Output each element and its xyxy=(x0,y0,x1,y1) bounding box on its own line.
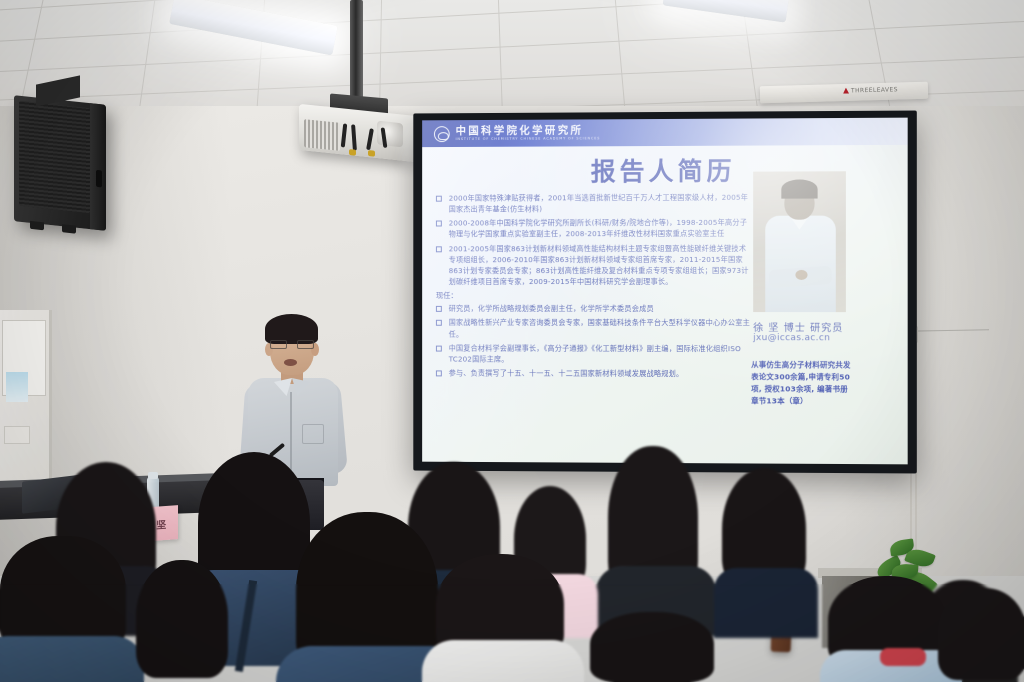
slide-speaker-name: 徐 坚 博士 研究员 xyxy=(753,319,843,334)
institute-logo-icon xyxy=(434,126,450,142)
bullet-square-icon xyxy=(436,221,442,227)
wall-speaker xyxy=(14,95,106,231)
bullet-item: 2001-2005年国家863计划新材料领域高性能结构材料主题专家组暨高性能碳纤… xyxy=(436,242,752,287)
bullet-item: 2000-2008年中国科学院化学研究所副所长(科研/财务/院地合作等)，199… xyxy=(436,217,752,240)
bullet-text: 中国复合材料学会副理事长，《高分子通报》《化工新型材料》副主编，国际标准化组织I… xyxy=(449,342,752,365)
slide-research-summary: 从事仿生高分子材料研究共发表论文300余篇,申请专利50项, 授权103余项, … xyxy=(751,359,852,407)
audience-member xyxy=(606,446,702,596)
bullet-item: 2000年国家特殊津贴获得者，2001年当选首批新世纪百千万人才工程国家级人材，… xyxy=(436,192,752,215)
audience-member xyxy=(590,612,716,682)
slide-header-band: 中国科学院化学研究所 INSTITUTE OF CHEMISTRY CHINES… xyxy=(422,118,908,148)
presenter-shirt-pocket xyxy=(302,424,324,444)
slide-speaker-email: jxu@iccas.ac.cn xyxy=(753,333,830,343)
cabinet-notice xyxy=(6,372,28,402)
bullet-square-icon xyxy=(436,370,442,376)
projector-vent xyxy=(304,119,340,151)
speaker-handle-port xyxy=(96,170,102,188)
bullet-item: 研究员，化学所战略规划委员会副主任，化学所学术委员会成员 xyxy=(436,303,752,314)
ceiling xyxy=(0,0,1024,118)
speaker-side-panel xyxy=(90,103,106,231)
audience-member xyxy=(938,588,1024,682)
audience-member xyxy=(0,536,128,682)
bullet-text: 参与、负责撰写了十五、十一五、十二五国家新材料领域发展战略规划。 xyxy=(449,368,684,380)
bullet-square-icon xyxy=(436,345,442,351)
audience-member xyxy=(436,554,568,682)
slide-bullet-list: 2000年国家特殊津贴获得者，2001年当选首批新世纪百千万人才工程国家级人材，… xyxy=(436,192,752,383)
lecture-hall-photo: THREELEAVES 中国科学院化学研究所 INSTITUTE OF CHEM… xyxy=(0,0,1024,682)
screen-brand-text: THREELEAVES xyxy=(851,86,898,94)
bullet-square-icon xyxy=(436,196,442,202)
bullet-item: 国家战略性新兴产业专家咨询委员会专家，国家基础科技条件平台大型科学仪器中心办公室… xyxy=(436,317,752,340)
portrait-hair xyxy=(781,179,817,198)
bullet-text: 2000年国家特殊津贴获得者，2001年当选首批新世纪百千万人才工程国家级人材，… xyxy=(449,192,752,215)
bullet-text: 2001-2005年国家863计划新材料领域高性能结构材料主题专家组暨高性能碳纤… xyxy=(449,242,752,287)
ceiling-tile-grid xyxy=(0,0,1024,118)
bullet-text: 2000-2008年中国科学院化学研究所副所长(科研/财务/院地合作等)，199… xyxy=(449,217,752,240)
cabinet-label xyxy=(4,426,30,444)
projection-screen: 中国科学院化学研究所 INSTITUTE OF CHEMISTRY CHINES… xyxy=(413,111,917,474)
presentation-slide: 中国科学院化学研究所 INSTITUTE OF CHEMISTRY CHINES… xyxy=(422,118,908,465)
speaker-foot xyxy=(30,221,44,230)
bullet-text: 国家战略性新兴产业专家咨询委员会专家，国家基础科技条件平台大型科学仪器中心办公室… xyxy=(449,317,752,340)
bullet-square-icon xyxy=(436,306,442,312)
audience-member xyxy=(296,512,442,682)
institute-name-cn: 中国科学院化学研究所 xyxy=(456,125,601,136)
speaker-portrait-photo xyxy=(753,171,846,312)
bullet-square-icon xyxy=(436,246,442,252)
institute-name-en: INSTITUTE OF CHEMISTRY CHINESE ACADEMY O… xyxy=(456,137,601,141)
audience-member xyxy=(828,576,950,682)
portrait-torso xyxy=(765,216,836,313)
bullet-text: 研究员，化学所战略规划委员会副主任，化学所学术委员会成员 xyxy=(449,303,654,314)
projector-mount-pole xyxy=(350,0,363,104)
bullet-item: 参与、负责撰写了十五、十一五、十二五国家新材料领域发展战略规划。 xyxy=(436,367,752,379)
speaker-foot xyxy=(62,224,76,233)
speaker-grille xyxy=(19,101,90,213)
brand-logo-icon xyxy=(843,88,849,94)
presenter-mouth xyxy=(284,359,297,366)
bullet-square-icon xyxy=(436,320,442,326)
presenter-glasses xyxy=(270,340,314,349)
audience-member xyxy=(722,468,808,594)
portrait-hand xyxy=(795,270,807,280)
audience-member xyxy=(136,560,232,682)
slide-section-label: 现任： xyxy=(436,290,752,301)
bullet-item: 中国复合材料学会副理事长，《高分子通报》《化工新型材料》副主编，国际标准化组织I… xyxy=(436,342,752,365)
